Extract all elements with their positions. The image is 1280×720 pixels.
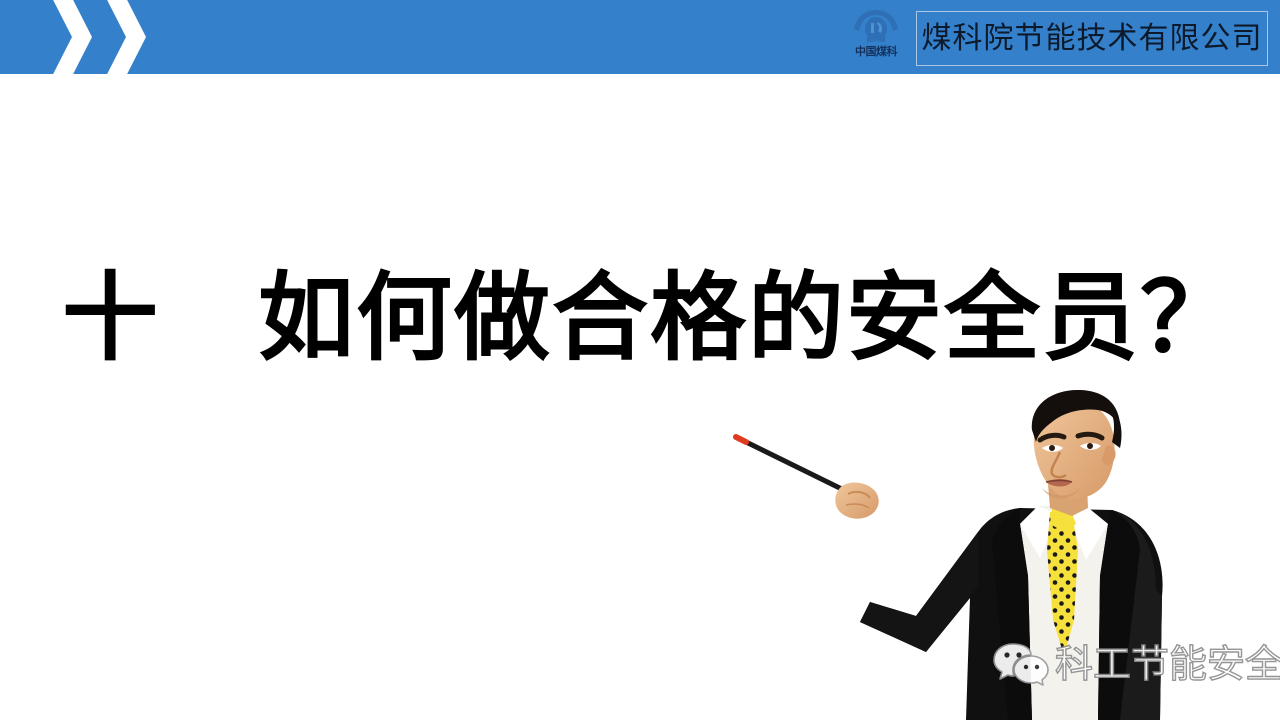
slide-canvas: 中国煤科 煤科院节能技术有限公司 十 如何做合格的安全员？ <box>0 0 1280 720</box>
company-logo-caption: 中国煤科 <box>843 45 909 58</box>
wechat-icon <box>993 642 1049 686</box>
page-title: 十 如何做合格的安全员？ <box>62 262 1222 374</box>
watermark: 科工节能安全 <box>993 638 1280 690</box>
company-name-textbox: 煤科院节能技术有限公司 <box>916 11 1268 66</box>
company-name-label: 煤科院节能技术有限公司 <box>922 24 1263 54</box>
china-coal-science-logo-icon <box>851 9 901 47</box>
watermark-label: 科工节能安全 <box>1055 645 1280 683</box>
header-bar: 中国煤科 煤科院节能技术有限公司 <box>0 0 1280 74</box>
chevron-right-icon <box>100 0 162 74</box>
company-logo: 中国煤科 <box>843 9 909 67</box>
chevron-right-icon <box>46 0 108 74</box>
